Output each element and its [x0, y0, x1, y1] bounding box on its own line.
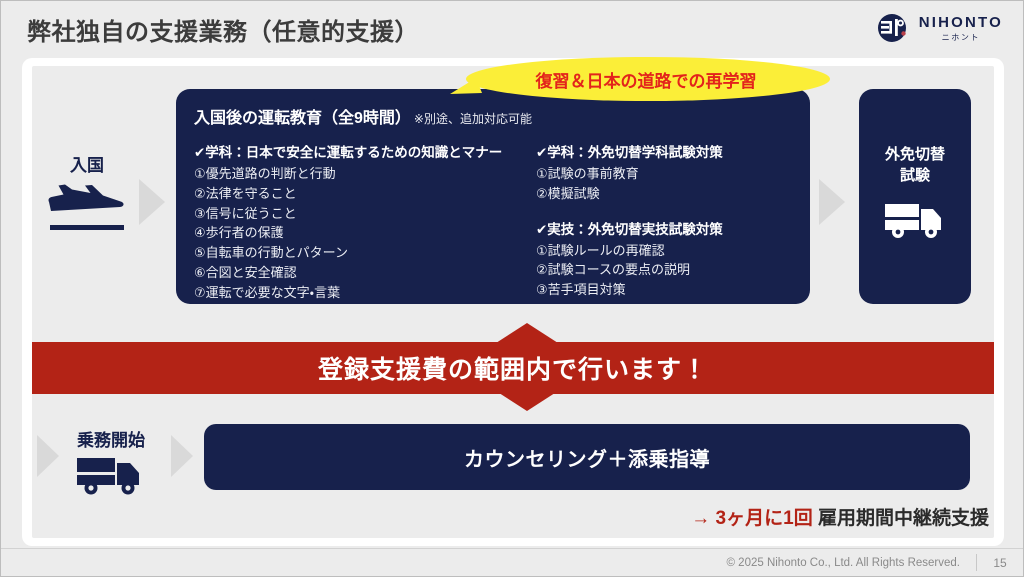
nihonto-logo-mark-icon — [876, 11, 910, 45]
column-item: ②試験コースの要点の説明 — [536, 260, 798, 280]
flow-arrow-icon — [171, 435, 195, 477]
column-item: ③苦手項目対策 — [536, 280, 798, 300]
stage-duty: 乗務開始 — [61, 426, 161, 495]
logo-kana: ニホント — [942, 34, 980, 42]
red-banner: 登録支援費の範囲内で行います！ — [32, 323, 994, 411]
stage-exam-label-line1: 外免切替 — [885, 146, 945, 163]
callout-bubble: 復習＆日本の道路での再学習 — [448, 56, 830, 102]
page-number: 15 — [993, 556, 1007, 570]
runway-line — [50, 225, 124, 230]
education-heading-note: ※別途、追加対応可能 — [414, 112, 532, 126]
note-frequency: → 3ヶ月に1回 — [691, 508, 812, 529]
flow-arrow-icon — [819, 179, 847, 225]
column-head: ✔学科：日本で安全に運転するための知識とマナー — [194, 141, 534, 161]
airplane-landing-icon — [48, 183, 126, 219]
column-head: ✔学科：外免切替学科試験対策 — [536, 141, 798, 161]
column-item: ②法律を守ること — [194, 184, 534, 204]
slide-canvas: 弊社独自の支援業務（任意的支援） NIHONTO ニホント 入国 — [0, 0, 1024, 577]
education-heading-main: 入国後の運転教育（全9時間） — [194, 110, 411, 127]
stage-entry-label: 入国 — [41, 151, 133, 176]
flow-arrow-icon — [139, 179, 167, 225]
column-item: ④歩行者の保護 — [194, 223, 534, 243]
red-banner-text: 登録支援費の範囲内で行います！ — [32, 342, 994, 394]
column-item: ①試験の事前教育 — [536, 164, 798, 184]
education-box: 入国後の運転教育（全9時間）※別途、追加対応可能 ✔学科：日本で安全に運転するた… — [176, 89, 810, 304]
stage-entry: 入国 — [41, 151, 133, 230]
counseling-box: カウンセリング＋添乗指導 — [204, 424, 970, 490]
banner-arrow-up-icon — [496, 323, 558, 343]
education-heading: 入国後の運転教育（全9時間）※別途、追加対応可能 — [194, 104, 532, 128]
stage-duty-label: 乗務開始 — [61, 426, 161, 451]
slide-header: 弊社独自の支援業務（任意的支援） NIHONTO ニホント — [1, 1, 1024, 56]
footer-divider — [976, 554, 977, 571]
column-item: ②模擬試験 — [536, 184, 798, 204]
brand-logo: NIHONTO ニホント — [876, 11, 1003, 45]
logo-text: NIHONTO ニホント — [919, 15, 1003, 42]
page-title: 弊社独自の支援業務（任意的支援） — [27, 12, 419, 47]
column-item: ③信号に従うこと — [194, 204, 534, 224]
column-spacer — [536, 204, 798, 218]
stage-exam: 外免切替 試験 — [859, 89, 971, 304]
column-head-secondary: ✔実技：外免切替実技試験対策 — [536, 218, 798, 238]
education-column-academic: ✔学科：日本で安全に運転するための知識とマナー ①優先道路の判断と行動 ②法律を… — [194, 141, 534, 302]
note-description: 雇用期間中継続支援 — [818, 508, 989, 529]
counseling-text: カウンセリング＋添乗指導 — [464, 443, 710, 472]
stage-exam-label: 外免切替 試験 — [859, 145, 971, 186]
column-item: ①優先道路の判断と行動 — [194, 164, 534, 184]
callout-text: 復習＆日本の道路での再学習 — [448, 56, 830, 102]
education-column-exam-prep: ✔学科：外免切替学科試験対策 ①試験の事前教育 ②模擬試験 ✔実技：外免切替実技… — [536, 141, 798, 300]
truck-icon — [75, 455, 147, 495]
column-item: ①試験ルールの再確認 — [536, 241, 798, 261]
column-item: ⑦運転で必要な文字・言葉 — [194, 283, 534, 303]
flow-arrow-icon — [37, 435, 61, 477]
slide-footer: © 2025 Nihonto Co., Ltd. All Rights Rese… — [1, 548, 1024, 576]
logo-wordmark: NIHONTO — [919, 15, 1003, 30]
column-item: ⑤自転車の行動とパターン — [194, 243, 534, 263]
banner-arrow-down-icon — [496, 391, 558, 411]
truck-icon — [883, 201, 947, 239]
column-item: ⑥合図と安全確認 — [194, 263, 534, 283]
continuous-support-note: → 3ヶ月に1回 雇用期間中継続支援 — [691, 503, 989, 530]
copyright-text: © 2025 Nihonto Co., Ltd. All Rights Rese… — [727, 557, 961, 569]
stage-exam-label-line2: 試験 — [900, 167, 930, 184]
